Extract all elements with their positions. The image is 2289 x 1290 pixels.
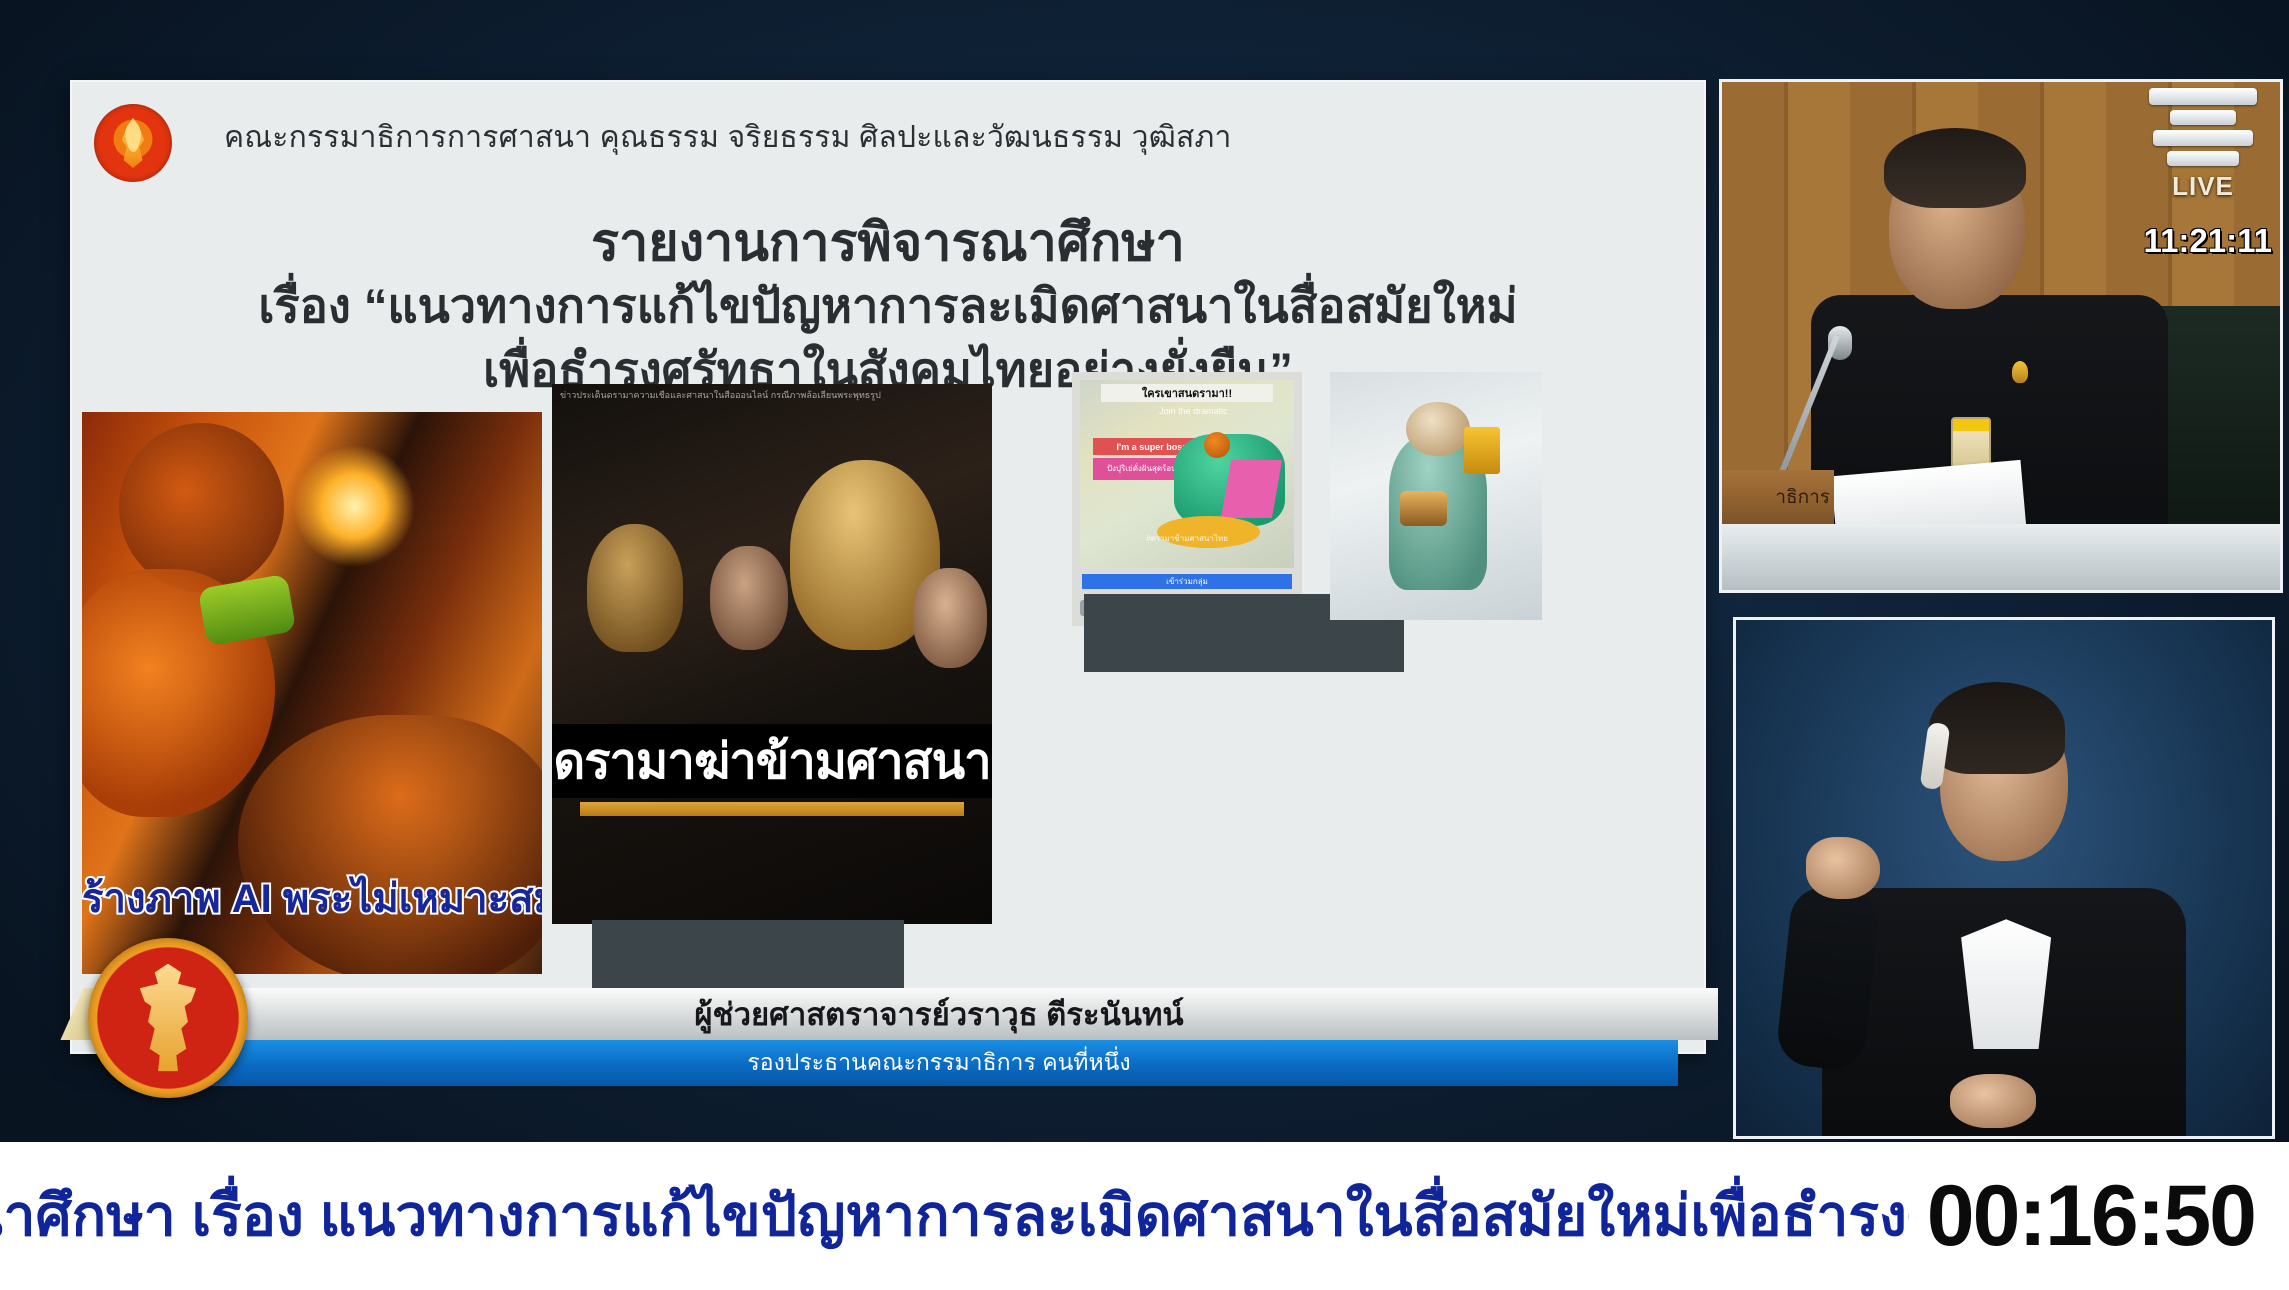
news-ticker-bar: รณาศึกษา เรื่อง แนวทางการแก้ไขปัญหาการละ… — [0, 1142, 2289, 1290]
drama-tile-caption: ดรามาฆ่าข้ามศาสนา — [552, 724, 992, 798]
logo-bar-2 — [2170, 110, 2236, 125]
garuda-emblem-icon — [94, 104, 172, 182]
person-face-right — [913, 568, 987, 668]
buddha-statue-small — [587, 524, 683, 652]
speaker-role-bar: รองประธานคณะกรรมาธิการ คนที่หนึ่ง — [200, 1040, 1678, 1086]
speaker-hair — [1884, 128, 2026, 208]
logo-bar-4 — [2167, 151, 2239, 166]
person-face-left — [710, 546, 788, 650]
signer-shirt — [1961, 919, 2051, 1049]
speaker-name: ผู้ช่วยศาสตราจารย์วราวุธ ตีระนันทน์ — [694, 989, 1183, 1039]
statue-head — [1406, 402, 1470, 457]
signer-hair — [1929, 682, 2065, 774]
speaker-nameplate: ผู้ช่วยศาสตราจารย์วราวุธ ตีระนันทน์ — [160, 988, 1718, 1040]
figurine-head — [1204, 432, 1230, 458]
sign-language-feed — [1736, 620, 2272, 1136]
drink-cup — [1464, 427, 1500, 474]
desk-name-plate: าธิการ — [1722, 470, 1834, 524]
main-camera-feed: าธิการ LIVE 11:21:11 — [1722, 82, 2280, 590]
countdown-timer: 00:16:50 — [1909, 1167, 2289, 1266]
social-join-group-button[interactable]: เข้าร่วมกลุ่ม — [1082, 574, 1292, 589]
social-post-image: ใครเขาสนดรามา!! Join the dramatic I'm a … — [1080, 380, 1294, 568]
signer-signing-hand — [1806, 837, 1880, 899]
media-tile-monks-ai: ร้างภาพ AI พระไม่เหมาะสม — [82, 412, 542, 974]
drama-tile-note: ข่าวประเด็นดรามาความเชื่อและศาสนาในสื่ออ… — [560, 390, 984, 434]
broadcast-screen: คณะกรรมาธิการการศาสนา คุณธรรม จริยธรรม ศ… — [0, 0, 2289, 1290]
slide-committee-line: คณะกรรมาธิการการศาสนา คุณธรรม จริยธรรม ศ… — [224, 114, 1664, 161]
media-tile-drama: ข่าวประเด็นดรามาความเชื่อและศาสนาในสื่ออ… — [552, 384, 992, 924]
ticker-headline: รณาศึกษา เรื่อง แนวทางการแก้ไขปัญหาการละ… — [0, 1171, 1909, 1261]
live-badge: LIVE — [2172, 171, 2234, 202]
social-post-hashtag: #ดรามาข้ามศาสนาไทย — [1080, 532, 1294, 545]
social-post-english-text: Join the dramatic — [1127, 406, 1260, 428]
crowd-figures — [238, 715, 542, 974]
social-post-header: ใครเขาสนดรามา!! — [1101, 384, 1272, 402]
logo-bar-3 — [2153, 130, 2253, 146]
media-tile-statue — [1330, 372, 1542, 620]
logo-bar-1 — [2149, 88, 2257, 105]
speaker-role: รองประธานคณะกรรมาธิการ คนที่หนึ่ง — [747, 1045, 1130, 1081]
media-tile-social-post: ใครเขาสนดรามา!! Join the dramatic I'm a … — [1072, 372, 1302, 626]
deck-chair — [1220, 460, 1282, 518]
monk-figure-top — [119, 423, 285, 592]
fire-flare — [294, 446, 414, 566]
signer-lower-hand — [1950, 1074, 2036, 1128]
thai-parliament-seal-icon — [88, 938, 248, 1098]
broadcast-clock: 11:21:11 — [2144, 222, 2272, 260]
desk-surface — [1722, 524, 2280, 590]
presentation-slide-panel: คณะกรรมาธิการการศาสนา คุณธรรม จริยธรรม ศ… — [72, 82, 1704, 1052]
drama-accent-bar — [580, 802, 964, 816]
id-badge — [1951, 417, 1991, 469]
channel-logo: LIVE — [2144, 88, 2262, 202]
monk-tile-caption: ร้างภาพ AI พระไม่เหมาะสม — [82, 866, 542, 930]
lapel-pin-icon — [2012, 361, 2028, 383]
slide-media-collage: ร้างภาพ AI พระไม่เหมาะสม ข่าวประเด็นดราม… — [72, 414, 1704, 974]
burger-item — [1400, 491, 1447, 526]
